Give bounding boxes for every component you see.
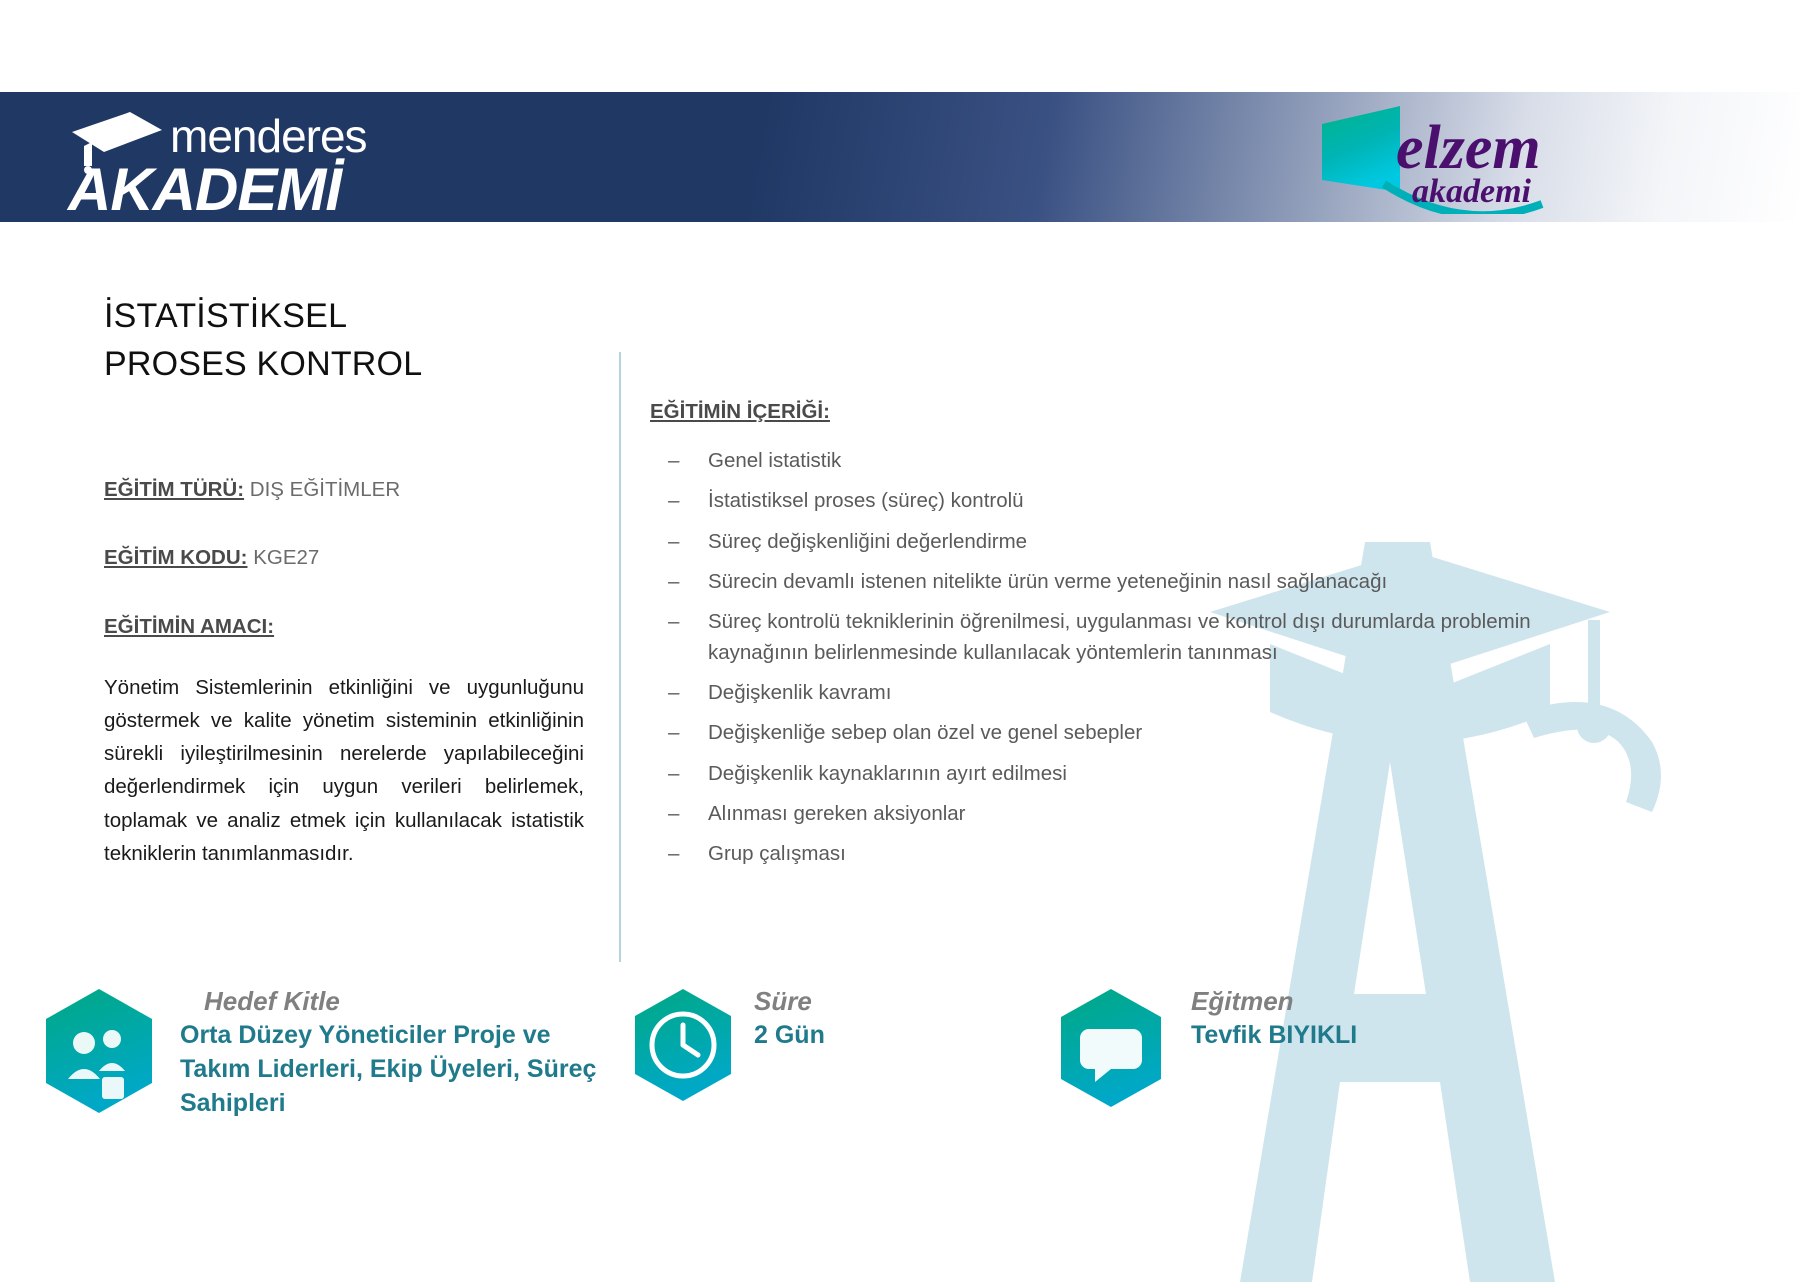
svg-text:elzem: elzem [1396,114,1541,182]
content-list: –Genel istatistik–İstatistiksel proses (… [650,446,1600,870]
bullet-dash-icon: – [668,839,679,869]
course-type-value: DIŞ EĞİTİMLER [250,478,400,501]
content-list-item: –Genel istatistik [650,446,1600,476]
content-list-item-label: Değişkenlik kavramı [708,681,891,704]
content-list-item: –Grup çalışması [650,839,1600,869]
bullet-dash-icon: – [668,718,679,748]
content-list-item-label: Grup çalışması [708,842,846,865]
content-heading: EĞİTİMİN İÇERİĞİ: [650,400,1600,424]
course-code-label: EĞİTİM KODU: [104,546,248,569]
course-title-line-1: İSTATİSTİKSEL [104,292,584,340]
content-list-item-label: İstatistiksel proses (süreç) kontrolü [708,489,1024,512]
bullet-dash-icon: – [668,759,679,789]
course-summary-column: İSTATİSTİKSEL PROSES KONTROL EĞİTİM TÜRÜ… [104,292,584,870]
bullet-dash-icon: – [668,607,679,637]
content-list-item: –Süreç kontrolü tekniklerinin öğrenilmes… [650,607,1600,668]
audience-info-block: Hedef Kitle Orta Düzey Yöneticiler Proje… [40,985,600,1120]
course-code-row: EĞİTİM KODU: KGE27 [104,543,584,574]
duration-value: 2 Gün [754,1018,825,1052]
elzem-akademi-logo: elzem akademi [1312,84,1672,214]
course-title-line-2: PROSES KONTROL [104,340,584,388]
content-list-item: –Değişkenlik kavramı [650,678,1600,708]
course-code-value: KGE27 [253,546,319,569]
duration-info-block: Süre 2 Gün [630,985,930,1105]
people-group-icon [40,985,158,1117]
column-divider [619,352,621,962]
content-list-item-label: Değişkenliğe sebep olan özel ve genel se… [708,721,1142,744]
course-purpose-heading-row: EĞİTİMİN AMACI: [104,612,584,643]
svg-text:AKADEMİ: AKADEMİ [66,156,345,220]
svg-text:menderes: menderes [170,110,367,162]
bullet-dash-icon: – [668,799,679,829]
trainer-value: Tevfik BIYIKLI [1191,1018,1357,1052]
menderes-akademi-logo: menderes AKADEMİ [58,100,478,220]
content-list-item-label: Süreç değişkenliğini değerlendirme [708,530,1027,553]
content-list-item: –Süreç değişkenliğini değerlendirme [650,527,1600,557]
content-list-item-label: Alınması gereken aksiyonlar [708,802,966,825]
content-list-item: –Değişkenlik kaynaklarının ayırt edilmes… [650,759,1600,789]
course-type-label: EĞİTİM TÜRÜ: [104,478,244,501]
bullet-dash-icon: – [668,567,679,597]
trainer-label: Eğitmen [1191,985,1357,1018]
page-header: menderes AKADEMİ elzem akademi [0,92,1800,222]
content-list-item-label: Değişkenlik kaynaklarının ayırt edilmesi [708,762,1067,785]
course-purpose-label: EĞİTİMİN AMACI: [104,615,274,638]
audience-value: Orta Düzey Yöneticiler Proje ve Takım Li… [180,1018,600,1120]
duration-label: Süre [754,985,825,1018]
course-type-row: EĞİTİM TÜRÜ: DIŞ EĞİTİMLER [104,475,584,506]
bullet-dash-icon: – [668,486,679,516]
speech-bubble-icon [1055,985,1167,1111]
bullet-dash-icon: – [668,678,679,708]
content-list-item: –Sürecin devamlı istenen nitelikte ürün … [650,567,1600,597]
content-list-item: –Alınması gereken aksiyonlar [650,799,1600,829]
trainer-info-block: Eğitmen Tevfik BIYIKLI [1055,985,1505,1111]
course-purpose-text: Yönetim Sistemlerinin etkinliğini ve uyg… [104,671,584,870]
clock-icon [630,985,736,1105]
page-title: İSTATİSTİKSEL PROSES KONTROL [104,292,584,389]
content-list-item: –Değişkenliğe sebep olan özel ve genel s… [650,718,1600,748]
course-content-column: EĞİTİMİN İÇERİĞİ: –Genel istatistik–İsta… [650,400,1600,880]
audience-label: Hedef Kitle [204,985,600,1018]
content-list-item-label: Genel istatistik [708,449,841,472]
bullet-dash-icon: – [668,446,679,476]
content-list-item: –İstatistiksel proses (süreç) kontrolü [650,486,1600,516]
content-list-item-label: Süreç kontrolü tekniklerinin öğrenilmesi… [708,610,1531,663]
bullet-dash-icon: – [668,527,679,557]
svg-text:akademi: akademi [1412,173,1532,210]
content-list-item-label: Sürecin devamlı istenen nitelikte ürün v… [708,570,1387,593]
